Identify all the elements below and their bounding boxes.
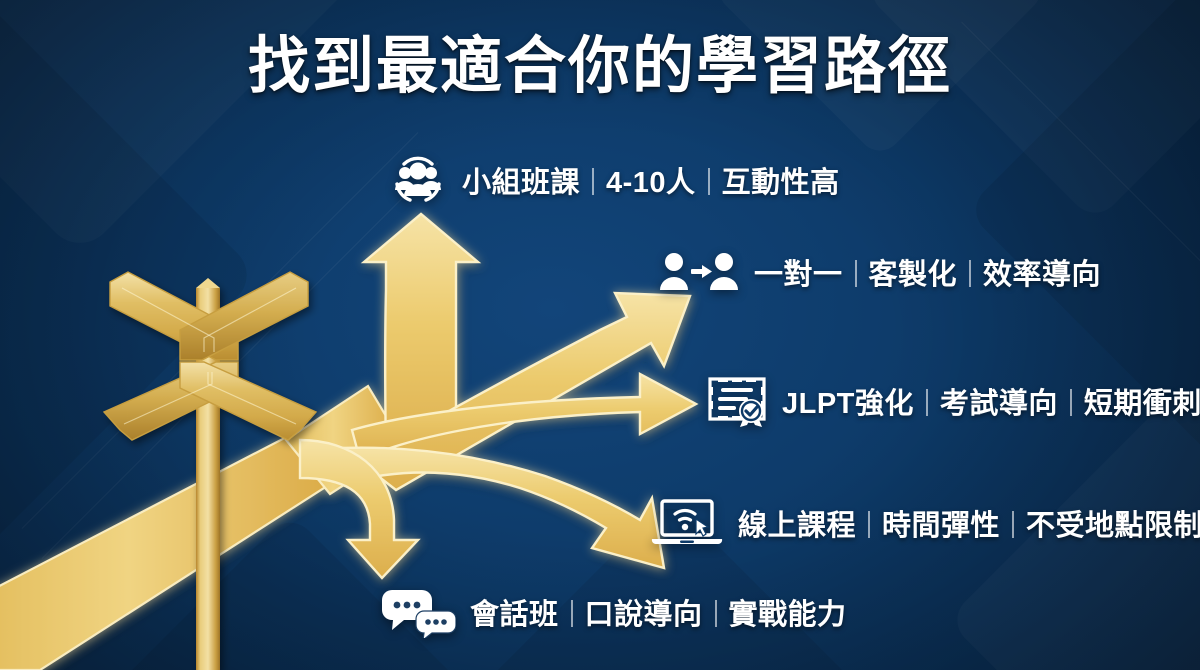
arrow-right bbox=[352, 374, 696, 460]
path-segment: 口說導向 bbox=[585, 591, 703, 633]
arrow-trunk-extend bbox=[286, 386, 404, 494]
separator bbox=[1012, 511, 1014, 538]
signpost-sign-lower-right bbox=[180, 362, 316, 440]
page-title: 找到最適合你的學習路徑 bbox=[0, 36, 1200, 98]
separator bbox=[926, 389, 928, 416]
path-segment: 小組班課 bbox=[462, 159, 580, 201]
path-item-online-course[interactable]: 線上課程 時間彈性 不受地點限制 bbox=[650, 497, 1200, 549]
signpost-group bbox=[104, 272, 316, 670]
signpost-pole bbox=[196, 288, 220, 670]
path-label-conversation: 會話班 口說導向 實戰能力 bbox=[470, 591, 847, 633]
path-segment: 4-10人 bbox=[606, 159, 696, 201]
path-segment: 考試導向 bbox=[940, 380, 1058, 422]
path-segment: JLPT強化 bbox=[782, 380, 914, 422]
path-segment: 互動性高 bbox=[722, 159, 840, 201]
path-item-group-class[interactable]: 小組班課 4-10人 互動性高 bbox=[388, 156, 840, 204]
speech-bubbles-icon bbox=[378, 586, 456, 638]
path-item-conversation[interactable]: 會話班 口說導向 實戰能力 bbox=[378, 586, 847, 638]
arrow-up-right bbox=[360, 293, 690, 490]
separator bbox=[708, 168, 710, 195]
path-segment: 不受地點限制 bbox=[1026, 502, 1200, 544]
separator bbox=[592, 168, 594, 195]
signpost-sign-lower-left bbox=[104, 362, 238, 440]
path-segment: 會話班 bbox=[470, 591, 559, 633]
path-label-one-on-one: 一對一 客製化 效率導向 bbox=[754, 251, 1101, 293]
arrow-down bbox=[300, 440, 418, 578]
arrow-trunk bbox=[0, 430, 352, 670]
signpost-pole-cap bbox=[196, 278, 220, 288]
separator bbox=[969, 260, 971, 287]
one-to-one-people-arrow-icon bbox=[658, 250, 740, 294]
bg-line-2 bbox=[42, 162, 439, 559]
path-label-online-course: 線上課程 時間彈性 不受地點限制 bbox=[738, 502, 1200, 544]
certificate-award-icon bbox=[706, 375, 768, 427]
separator bbox=[868, 511, 870, 538]
separator bbox=[715, 600, 717, 627]
bg-line-1 bbox=[22, 132, 419, 529]
path-segment: 客製化 bbox=[869, 251, 958, 293]
path-label-group-class: 小組班課 4-10人 互動性高 bbox=[462, 159, 840, 201]
path-item-jlpt[interactable]: JLPT強化 考試導向 短期衝刺 bbox=[706, 375, 1200, 427]
path-segment: 實戰能力 bbox=[729, 591, 847, 633]
separator bbox=[571, 600, 573, 627]
path-segment: 短期衝刺 bbox=[1084, 380, 1200, 422]
group-people-icon bbox=[388, 156, 448, 204]
path-segment: 線上課程 bbox=[738, 502, 856, 544]
path-item-one-on-one[interactable]: 一對一 客製化 效率導向 bbox=[658, 250, 1101, 294]
arrow-down-right bbox=[340, 448, 664, 568]
path-segment: 一對一 bbox=[754, 251, 843, 293]
path-label-jlpt: JLPT強化 考試導向 短期衝刺 bbox=[782, 380, 1200, 422]
arrow-up bbox=[364, 214, 478, 470]
award-ribbon bbox=[739, 399, 763, 427]
separator bbox=[1070, 389, 1072, 416]
laptop-wifi-icon bbox=[650, 497, 724, 549]
separator bbox=[855, 260, 857, 287]
signpost-sign-upper-left bbox=[110, 272, 238, 360]
signpost-sign-upper-right bbox=[180, 272, 308, 360]
path-segment: 時間彈性 bbox=[882, 502, 1000, 544]
path-segment: 效率導向 bbox=[983, 251, 1101, 293]
infographic-canvas: 找到最適合你的學習路徑 小組班課 4-10人 互動性高 bbox=[0, 0, 1200, 670]
